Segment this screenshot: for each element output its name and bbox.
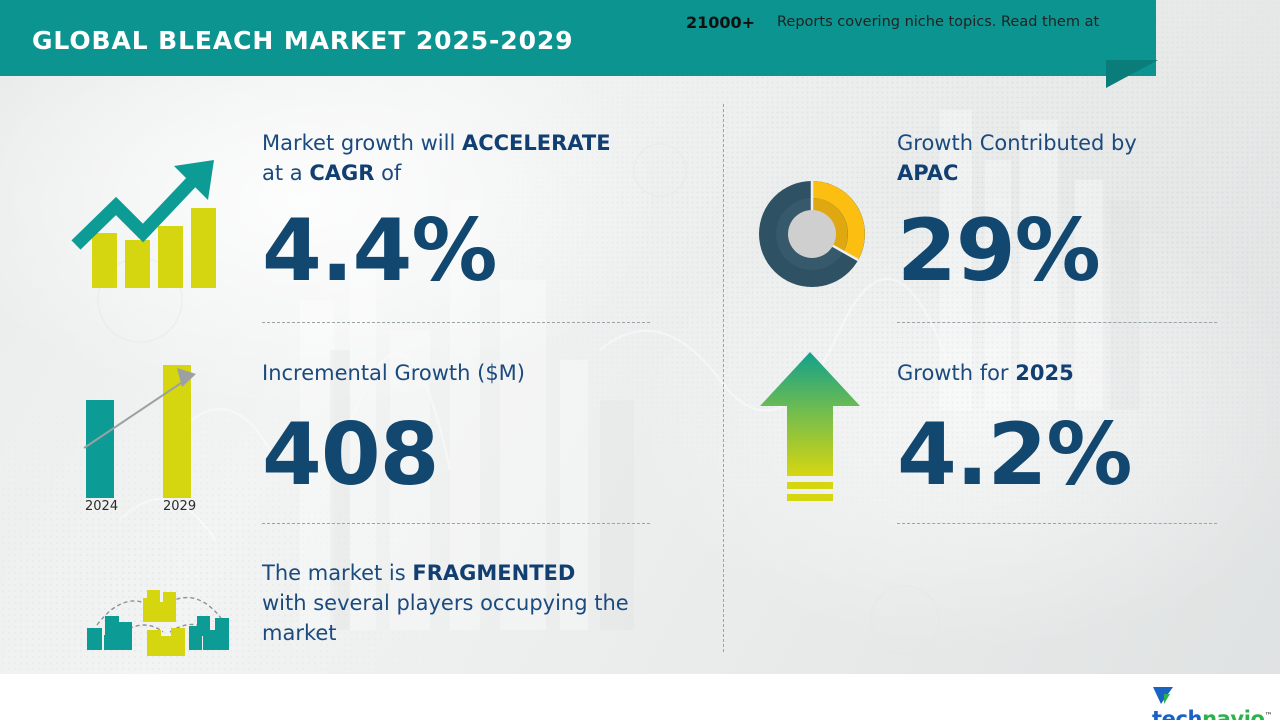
- fragmentation-line3: market: [262, 621, 337, 645]
- city-buildings-network-icon: [75, 570, 245, 665]
- cagr-line2-strong: CAGR: [309, 161, 374, 185]
- bar-label-2024: 2024: [85, 499, 118, 514]
- incremental-growth-value: 408: [262, 412, 439, 498]
- cagr-line2-prefix: at a: [262, 161, 309, 185]
- growth-2025-label-strong: 2025: [1015, 361, 1073, 385]
- footer-tagline: Reports covering niche topics. Read them…: [777, 14, 1099, 30]
- fragmentation-description: The market is FRAGMENTED with several pl…: [262, 558, 682, 648]
- footer-report-count: 21000+: [686, 13, 755, 32]
- logo-text-navio: navio: [1202, 707, 1264, 720]
- fragmentation-line1-prefix: The market is: [262, 561, 412, 585]
- infographic-page: GLOBAL BLEACH MARKET 2025-2029 Market gr…: [0, 0, 1280, 720]
- growth-2025-label-prefix: Growth for: [897, 361, 1015, 385]
- footer-bar: [0, 674, 1280, 720]
- logo-text-tech: tech: [1152, 707, 1202, 720]
- apac-line1-strong: APAC: [897, 161, 958, 185]
- apac-line1: Growth Contributed by: [897, 131, 1137, 155]
- fragmentation-line2: with several players occupying the: [262, 591, 629, 615]
- right-divider-2: [897, 523, 1217, 524]
- cagr-description: Market growth will ACCELERATE at a CAGR …: [262, 128, 662, 188]
- apac-description: Growth Contributed by APAC: [897, 128, 1227, 188]
- cagr-value: 4.4%: [262, 208, 497, 294]
- logo-trademark: ™: [1265, 711, 1273, 720]
- left-divider-2: [262, 523, 650, 524]
- fragmentation-line1-strong: FRAGMENTED: [412, 561, 575, 585]
- growth-bar-arrow-icon: [70, 148, 230, 303]
- cagr-line1-strong: ACCELERATE: [462, 131, 611, 155]
- growth-2025-value: 4.2%: [897, 412, 1132, 498]
- technavio-logo-mark: [1152, 684, 1178, 706]
- page-title: GLOBAL BLEACH MARKET 2025-2029: [32, 26, 573, 55]
- apac-value: 29%: [897, 208, 1100, 294]
- incremental-growth-label: Incremental Growth ($M): [262, 358, 525, 388]
- donut-chart-icon: [746, 168, 878, 305]
- cagr-line2-suffix: of: [374, 161, 401, 185]
- growth-2025-label: Growth for 2025: [897, 358, 1074, 388]
- technavio-logo[interactable]: technavio™: [1152, 684, 1280, 720]
- two-bar-compare-icon: [78, 330, 218, 510]
- right-divider-1: [897, 322, 1217, 323]
- gradient-up-arrow-icon: [755, 348, 865, 513]
- column-divider: [723, 104, 724, 652]
- bar-label-2029: 2029: [163, 499, 196, 514]
- cagr-line1-prefix: Market growth will: [262, 131, 462, 155]
- left-divider-1: [262, 322, 650, 323]
